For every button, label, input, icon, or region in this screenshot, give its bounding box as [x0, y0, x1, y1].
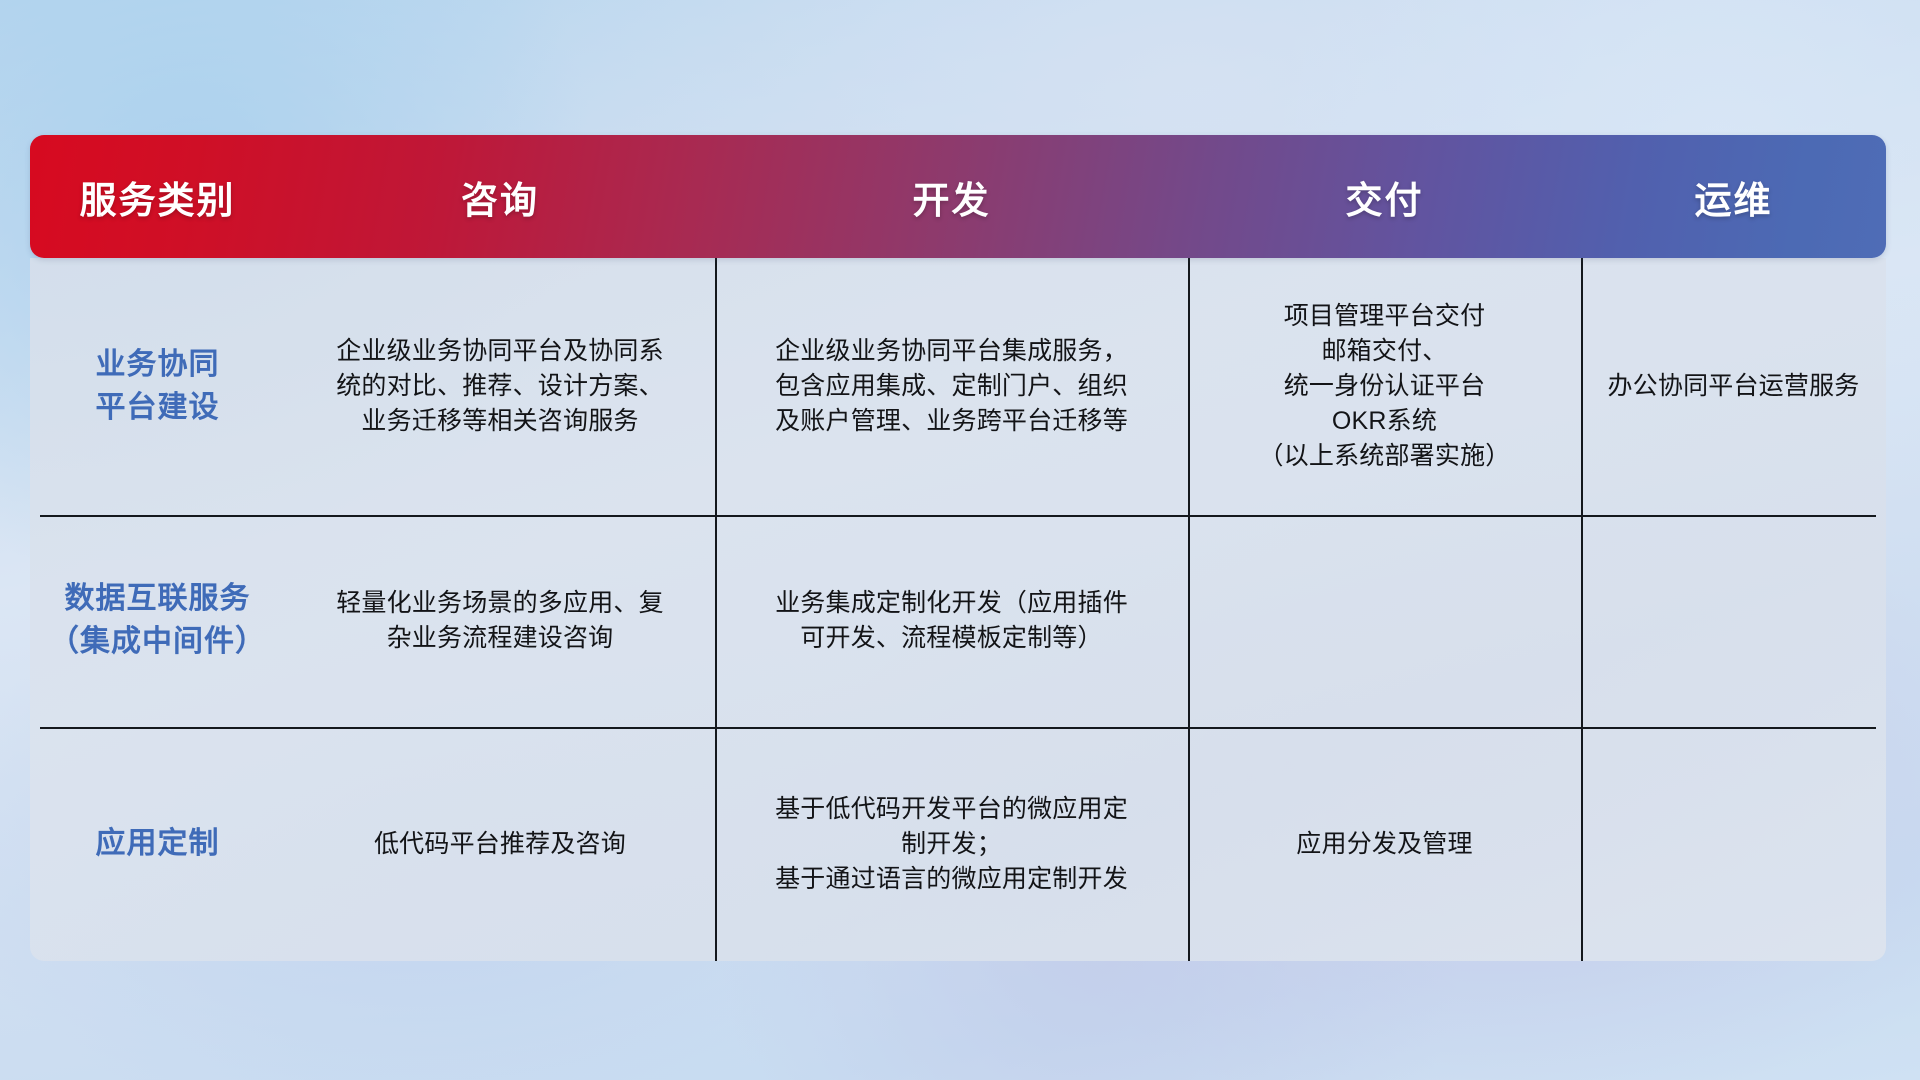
row-development-cell: 基于低代码开发平台的微应用定 制开发； 基于通过语言的微应用定制开发 — [715, 727, 1188, 961]
row-delivery-cell: 应用分发及管理 — [1188, 727, 1581, 961]
row-delivery-cell: 项目管理平台交付 邮箱交付、 统一身份认证平台 OKR系统 （以上系统部署实施） — [1188, 258, 1581, 515]
table-row: 应用定制 低代码平台推荐及咨询 基于低代码开发平台的微应用定 制开发； 基于通过… — [30, 727, 1886, 961]
cell-text: 应用分发及管理 — [1296, 827, 1472, 862]
table-row: 业务协同 平台建设 企业级业务协同平台及协同系 统的对比、推荐、设计方案、 业务… — [30, 258, 1886, 515]
row-consulting-cell: 企业级业务协同平台及协同系 统的对比、推荐、设计方案、 业务迁移等相关咨询服务 — [285, 258, 715, 515]
row-category-cell: 业务协同 平台建设 — [30, 258, 285, 515]
cell-text: 轻量化业务场景的多应用、复 杂业务流程建设咨询 — [336, 586, 664, 656]
header-cell-category: 服务类别 — [30, 135, 285, 258]
table-row: 数据互联服务 （集成中间件） 轻量化业务场景的多应用、复 杂业务流程建设咨询 业… — [30, 515, 1886, 727]
row-consulting-cell: 轻量化业务场景的多应用、复 杂业务流程建设咨询 — [285, 515, 715, 727]
row-operations-cell — [1581, 727, 1886, 961]
cell-text: 企业级业务协同平台及协同系 统的对比、推荐、设计方案、 业务迁移等相关咨询服务 — [336, 334, 664, 439]
row-consulting-cell: 低代码平台推荐及咨询 — [285, 727, 715, 961]
row-operations-cell — [1581, 515, 1886, 727]
header-cell-consulting: 咨询 — [285, 135, 715, 258]
service-matrix-table: 服务类别 咨询 开发 交付 运维 业务协同 平台建设 企业级业务协同平台及协同系… — [30, 135, 1886, 961]
cell-text: 低代码平台推荐及咨询 — [374, 827, 626, 862]
cell-text: 项目管理平台交付 邮箱交付、 统一身份认证平台 OKR系统 （以上系统部署实施） — [1258, 299, 1510, 474]
header-cell-operations: 运维 — [1581, 135, 1886, 258]
table-header-row: 服务类别 咨询 开发 交付 运维 — [30, 135, 1886, 258]
category-label: 应用定制 — [96, 823, 220, 866]
row-category-cell: 数据互联服务 （集成中间件） — [30, 515, 285, 727]
row-delivery-cell — [1188, 515, 1581, 727]
row-development-cell: 企业级业务协同平台集成服务， 包含应用集成、定制门户、组织 及账户管理、业务跨平… — [715, 258, 1188, 515]
row-category-cell: 应用定制 — [30, 727, 285, 961]
cell-text: 业务集成定制化开发（应用插件 可开发、流程模板定制等） — [775, 586, 1128, 656]
cell-text: 办公协同平台运营服务 — [1607, 369, 1859, 404]
row-operations-cell: 办公协同平台运营服务 — [1581, 258, 1886, 515]
category-label: 数据互联服务 （集成中间件） — [49, 578, 266, 663]
cell-text: 基于低代码开发平台的微应用定 制开发； 基于通过语言的微应用定制开发 — [775, 792, 1128, 897]
table-body: 业务协同 平台建设 企业级业务协同平台及协同系 统的对比、推荐、设计方案、 业务… — [30, 258, 1886, 961]
cell-text: 企业级业务协同平台集成服务， 包含应用集成、定制门户、组织 及账户管理、业务跨平… — [775, 334, 1128, 439]
header-cell-development: 开发 — [715, 135, 1188, 258]
row-development-cell: 业务集成定制化开发（应用插件 可开发、流程模板定制等） — [715, 515, 1188, 727]
header-cell-delivery: 交付 — [1188, 135, 1581, 258]
category-label: 业务协同 平台建设 — [96, 344, 220, 429]
